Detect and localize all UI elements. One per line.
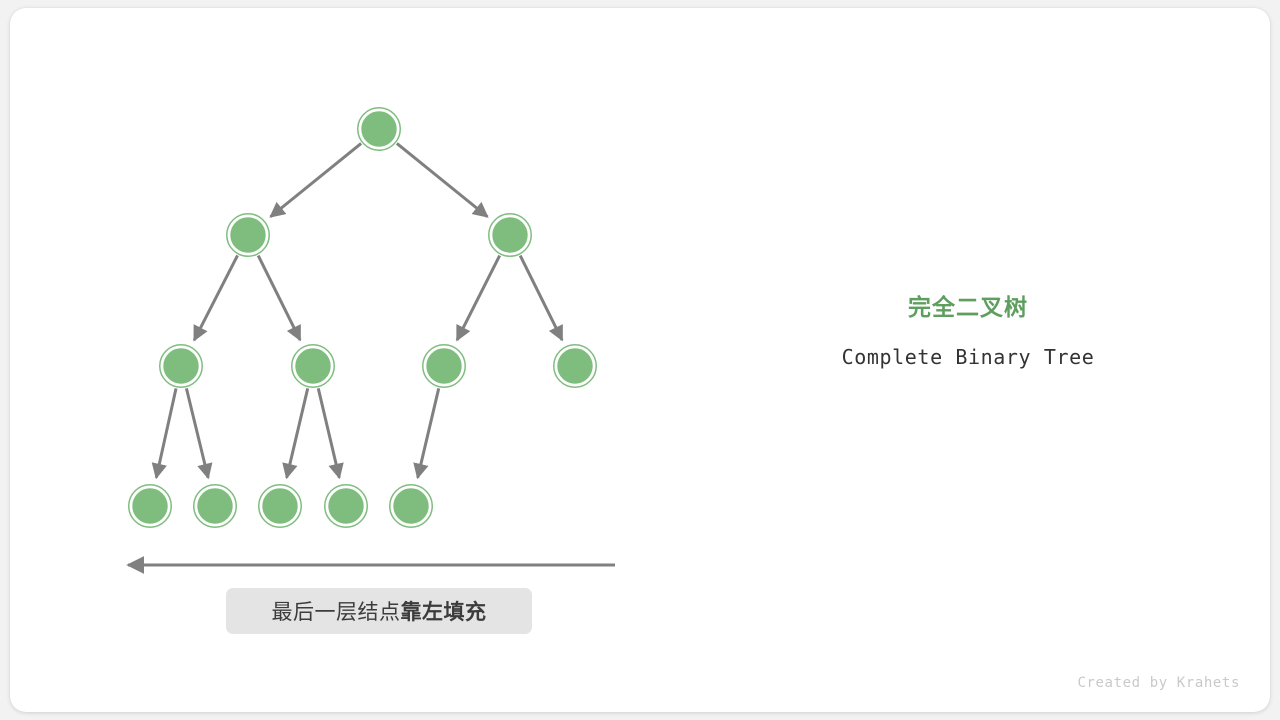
node-circle xyxy=(426,348,463,385)
node-circle xyxy=(230,217,267,254)
node-circle xyxy=(262,488,299,525)
legend-subtitle: Complete Binary Tree xyxy=(768,345,1168,369)
tree-edge xyxy=(194,255,237,340)
tree-nodes xyxy=(129,108,597,528)
tree-node xyxy=(325,485,368,528)
tree-node xyxy=(129,485,172,528)
credit-text: Created by Krahets xyxy=(0,675,1240,691)
caption-prefix: 最后一层结点 xyxy=(272,601,401,624)
tree-edge xyxy=(258,256,300,340)
tree-node xyxy=(554,345,597,388)
diagram-canvas: 完全二叉树 Complete Binary Tree 最后一层结点靠左填充 Cr… xyxy=(0,0,1280,720)
caption-emphasis: 靠左填充 xyxy=(401,601,487,624)
node-circle xyxy=(492,217,529,254)
tree-node xyxy=(194,485,237,528)
node-circle xyxy=(163,348,200,385)
tree-edge xyxy=(418,388,439,477)
tree-edge xyxy=(271,143,362,216)
tree-node xyxy=(259,485,302,528)
tree-node xyxy=(390,485,433,528)
tree-edge xyxy=(186,388,208,477)
legend: 完全二叉树 Complete Binary Tree xyxy=(768,292,1168,369)
tree-edge xyxy=(156,388,176,477)
tree-edge xyxy=(457,256,500,341)
tree-node xyxy=(292,345,335,388)
tree-edge xyxy=(520,256,562,340)
tree-node xyxy=(423,345,466,388)
tree-node xyxy=(227,214,270,257)
tree-node xyxy=(489,214,532,257)
node-circle xyxy=(295,348,332,385)
node-circle xyxy=(197,488,234,525)
tree-node xyxy=(160,345,203,388)
tree-edge xyxy=(318,388,339,477)
node-circle xyxy=(393,488,430,525)
tree-edges xyxy=(156,143,562,477)
legend-title: 完全二叉树 xyxy=(768,292,1168,322)
tree-edge xyxy=(287,388,308,477)
tree-node xyxy=(358,108,401,151)
tree-edge xyxy=(397,143,488,216)
caption-text: 最后一层结点靠左填充 xyxy=(272,596,487,626)
node-circle xyxy=(328,488,365,525)
node-circle xyxy=(557,348,594,385)
node-circle xyxy=(132,488,169,525)
node-circle xyxy=(361,111,398,148)
caption-box: 最后一层结点靠左填充 xyxy=(226,588,532,634)
